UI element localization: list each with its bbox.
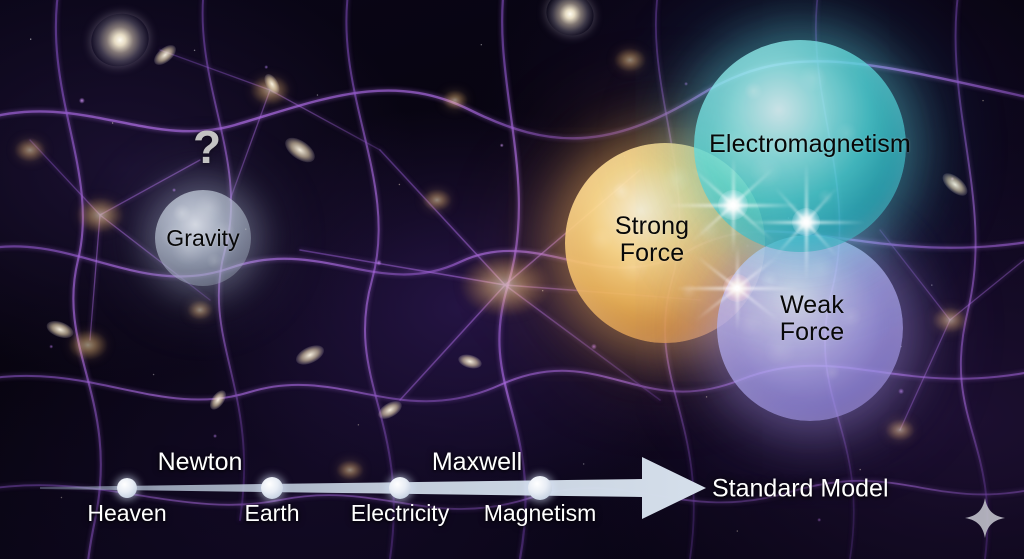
starfield xyxy=(0,0,1024,559)
timeline-dot-heaven[interactable] xyxy=(117,478,137,498)
cosmic-web-filaments xyxy=(0,0,1024,559)
timeline-arrow-icon xyxy=(0,0,1024,559)
edge-on-galaxy-icon xyxy=(151,41,180,68)
flare-em-weak xyxy=(731,147,881,297)
edge-on-galaxy-icon xyxy=(375,397,405,422)
timeline-label-earth: Earth xyxy=(245,500,300,527)
edge-on-galaxy-icon xyxy=(261,71,282,96)
timeline-era-maxwell: Maxwell xyxy=(432,448,522,477)
strong-force-label: Strong Force xyxy=(582,213,722,267)
spiral-galaxy-icon xyxy=(84,6,155,73)
edge-on-galaxy-icon xyxy=(281,133,319,167)
four-point-star-icon xyxy=(963,496,1007,540)
edge-on-galaxy-icon xyxy=(44,318,75,342)
edge-on-galaxy-icon xyxy=(293,341,327,368)
standard-model-label: Standard Model xyxy=(712,475,889,504)
question-mark-icon: ? xyxy=(193,124,221,170)
filament-speckles xyxy=(0,0,1024,559)
timeline-dot-electricity[interactable] xyxy=(389,477,411,499)
timeline-label-heaven: Heaven xyxy=(87,500,166,527)
timeline-label-electricity: Electricity xyxy=(351,500,449,527)
spiral-galaxy-icon xyxy=(540,0,600,42)
timeline-dot-earth[interactable] xyxy=(261,477,283,499)
timeline-era-newton: Newton xyxy=(158,448,243,477)
timeline-dot-magnetism[interactable] xyxy=(528,476,552,500)
weak-force-label: Weak Force xyxy=(742,292,882,346)
edge-on-galaxy-icon xyxy=(939,169,972,200)
edge-on-galaxy-icon xyxy=(457,352,484,371)
gravity-label: Gravity xyxy=(155,226,251,251)
cosmic-background xyxy=(0,0,1024,559)
forces-unification-figure: Gravity ? Electromagnetism Strong xyxy=(0,0,1024,559)
timeline-label-magnetism: Magnetism xyxy=(484,500,596,527)
electromagnetism-label: Electromagnetism xyxy=(660,131,960,158)
edge-on-galaxy-icon xyxy=(207,388,229,413)
unification-timeline: Heaven Earth Electricity Magnetism Newto… xyxy=(0,0,1024,559)
